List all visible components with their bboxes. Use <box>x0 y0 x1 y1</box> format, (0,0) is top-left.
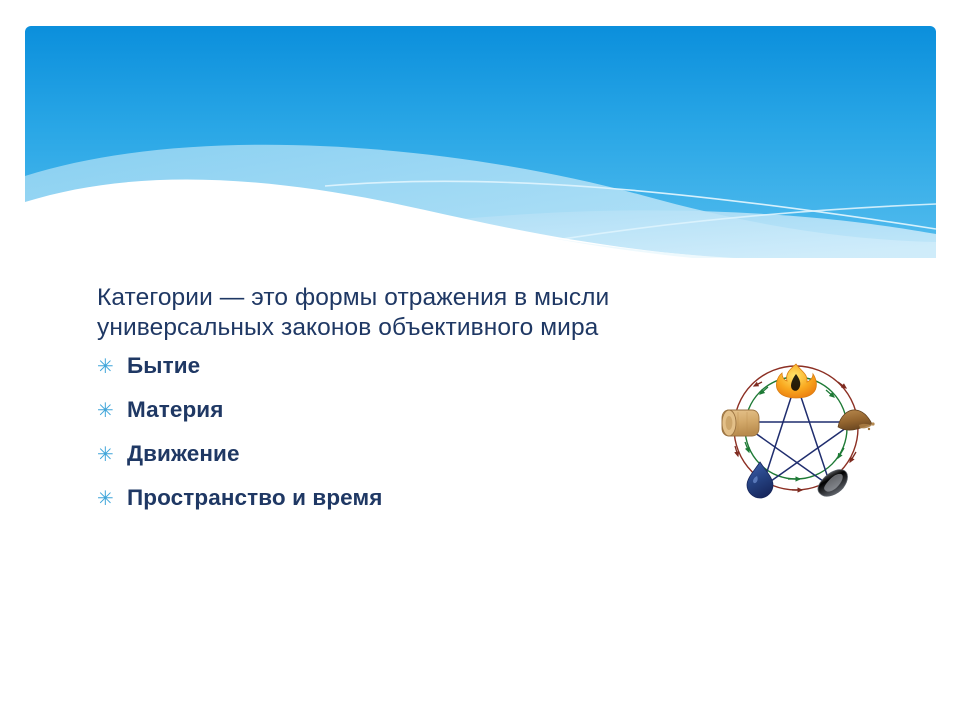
bullet-label: Бытие <box>127 353 200 379</box>
list-item: ✳ Пространство и время <box>97 485 757 511</box>
bullet-label: Пространство и время <box>127 485 382 511</box>
asterisk-bullet-icon: ✳ <box>97 356 127 376</box>
pentagram-graphic <box>716 352 876 508</box>
list-item: ✳ Материя <box>97 397 757 423</box>
wood-icon <box>722 410 759 436</box>
blue-wave-banner <box>25 26 936 258</box>
asterisk-bullet-icon: ✳ <box>97 444 127 464</box>
list-item: ✳ Бытие <box>97 353 757 379</box>
banner-graphic <box>25 26 936 258</box>
bullet-label: Материя <box>127 397 223 423</box>
bullet-label: Движение <box>127 441 240 467</box>
five-elements-pentagram-image <box>716 352 876 508</box>
metal-icon <box>818 470 848 497</box>
asterisk-bullet-icon: ✳ <box>97 400 127 420</box>
asterisk-bullet-icon: ✳ <box>97 488 127 508</box>
fire-icon <box>776 364 816 398</box>
slide-content: Категории — это формы отражения в мысли … <box>97 283 757 511</box>
earth-icon <box>838 410 875 430</box>
bullet-list: ✳ Бытие ✳ Материя ✳ Движение ✳ Пространс… <box>97 353 757 511</box>
list-item: ✳ Движение <box>97 441 757 467</box>
slide-canvas: Категории — это формы отражения в мысли … <box>0 0 960 720</box>
lead-paragraph: Категории — это формы отражения в мысли … <box>97 283 737 343</box>
